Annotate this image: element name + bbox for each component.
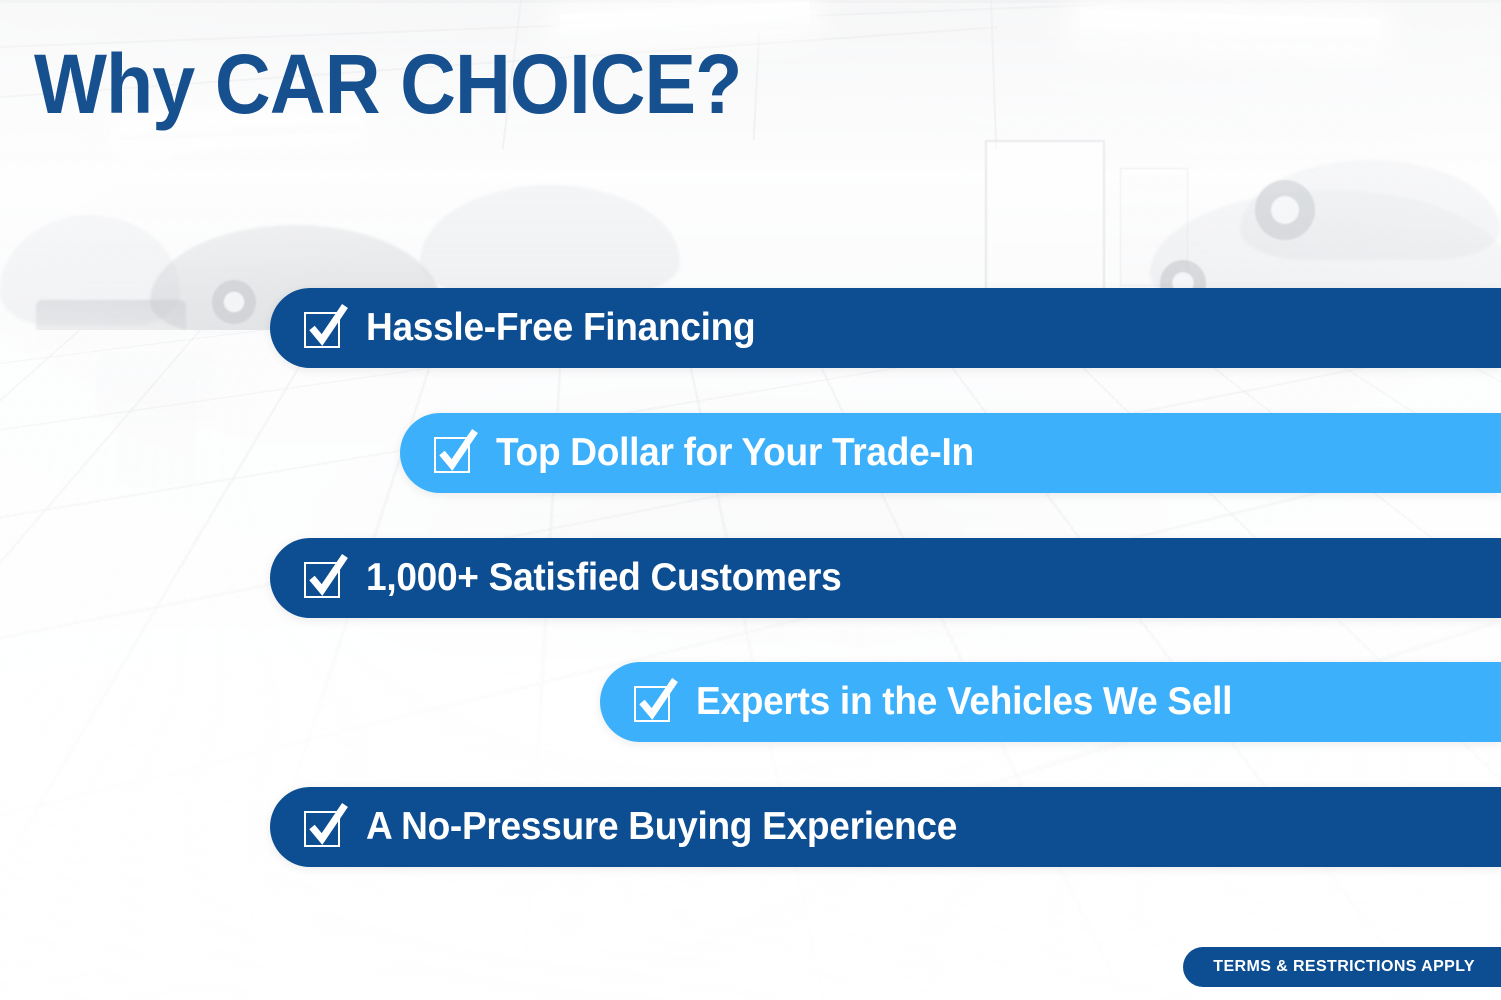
benefit-bar-3[interactable]: 1,000+ Satisfied Customers bbox=[270, 538, 1501, 618]
benefit-label: Experts in the Vehicles We Sell bbox=[696, 680, 1232, 724]
checkbox-checked-icon bbox=[432, 430, 478, 476]
promo-graphic: Why CAR CHOICE? Hassle-Free Financing To… bbox=[0, 0, 1501, 1000]
benefit-bar-2[interactable]: Top Dollar for Your Trade-In bbox=[400, 413, 1501, 493]
benefit-label: 1,000+ Satisfied Customers bbox=[366, 556, 841, 600]
checkbox-checked-icon bbox=[302, 555, 348, 601]
checkbox-checked-icon bbox=[632, 679, 678, 725]
benefit-label: A No-Pressure Buying Experience bbox=[366, 805, 957, 849]
terms-badge: TERMS & RESTRICTIONS APPLY bbox=[1183, 947, 1501, 987]
benefit-bar-5[interactable]: A No-Pressure Buying Experience bbox=[270, 787, 1501, 867]
benefit-label: Top Dollar for Your Trade-In bbox=[496, 431, 974, 475]
benefit-bar-4[interactable]: Experts in the Vehicles We Sell bbox=[600, 662, 1501, 742]
terms-label: TERMS & RESTRICTIONS APPLY bbox=[1213, 958, 1475, 976]
checkbox-checked-icon bbox=[302, 305, 348, 351]
page-title: Why CAR CHOICE? bbox=[34, 42, 741, 126]
checkbox-checked-icon bbox=[302, 804, 348, 850]
benefit-bar-1[interactable]: Hassle-Free Financing bbox=[270, 288, 1501, 368]
benefit-label: Hassle-Free Financing bbox=[366, 306, 755, 350]
